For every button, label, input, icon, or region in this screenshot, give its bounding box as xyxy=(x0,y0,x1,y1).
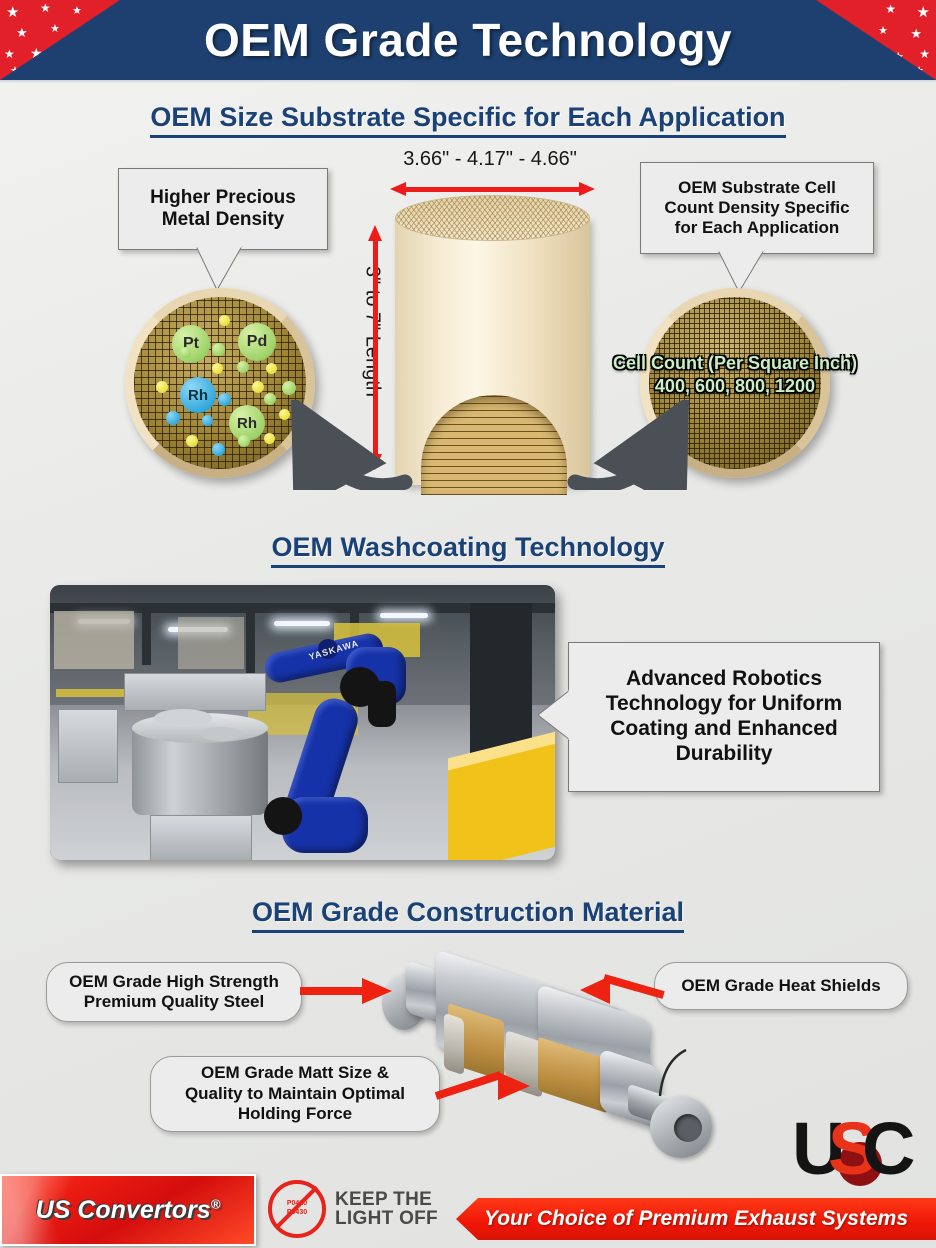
cell-count-title: Cell Count (Per Square Inch) xyxy=(585,352,885,375)
metal-particle xyxy=(212,363,223,374)
washcoating-robot-photo: YASKAWA xyxy=(50,585,555,860)
usc-logo: U S C xyxy=(792,1118,928,1188)
curved-arrow-left-icon xyxy=(285,400,415,490)
callout-line: Advanced Robotics xyxy=(606,667,842,692)
metal-particle xyxy=(156,381,168,393)
keep-light-line-2: LIGHT OFF xyxy=(335,1209,438,1228)
callout-line: Metal Density xyxy=(150,209,296,231)
callout-advanced-robotics: Advanced Robotics Technology for Uniform… xyxy=(568,642,880,792)
metal-bubble-rh-blue: Rh xyxy=(180,377,216,413)
metal-particle xyxy=(238,435,250,447)
logo-letter-c: C xyxy=(862,1114,915,1184)
registered-mark: ® xyxy=(211,1196,221,1211)
metal-particle xyxy=(186,435,198,447)
callout-higher-precious-metal-density: Higher Precious Metal Density xyxy=(118,168,328,250)
tagline-text: Your Choice of Premium Exhaust Systems xyxy=(484,1207,908,1231)
metal-particle xyxy=(180,347,191,358)
page-title: OEM Grade Technology xyxy=(0,0,936,80)
section-title-construction: OEM Grade Construction Material xyxy=(0,897,936,928)
callout-line: Count Density Specific xyxy=(664,198,849,218)
metal-particle xyxy=(212,343,225,356)
callout-line: Technology for Uniform xyxy=(606,692,842,717)
metal-particle xyxy=(266,363,277,374)
section-title-substrate: OEM Size Substrate Specific for Each App… xyxy=(0,102,936,133)
callout-matt-size-quality: OEM Grade Matt Size & Quality to Maintai… xyxy=(150,1056,440,1132)
curved-arrow-right-icon xyxy=(565,400,695,490)
callout-line: OEM Grade Matt Size & xyxy=(185,1063,405,1083)
callout-line: Holding Force xyxy=(185,1104,405,1124)
callout-line: OEM Substrate Cell xyxy=(664,178,849,198)
diameter-arrow-icon xyxy=(390,182,595,196)
tagline-banner: Your Choice of Premium Exhaust Systems xyxy=(456,1198,936,1240)
callout-line: OEM Grade High Strength xyxy=(69,972,279,992)
arrow-to-heat-shields-icon xyxy=(580,964,666,1006)
no-check-engine-light-icon: P0420 P0430 xyxy=(268,1180,326,1238)
substrate-diameter-label: 3.66" - 4.17" - 4.66" xyxy=(330,148,650,171)
header-divider xyxy=(0,80,936,83)
metal-particle xyxy=(252,381,264,393)
callout-substrate-cell-count-density: OEM Substrate Cell Count Density Specifi… xyxy=(640,162,874,254)
callout-line: Coating and Enhanced xyxy=(606,717,842,742)
callout-tail-robotics xyxy=(538,690,570,742)
infographic-page: ★ ★ ★ ★ ★ ★ ★ ★ ★ ★ ★ ★ ★ ★ ★ OEM Grade … xyxy=(0,0,936,1248)
brand-name: US Convertors xyxy=(36,1196,211,1224)
metal-particle xyxy=(166,411,180,425)
metal-particle xyxy=(219,315,230,326)
callout-heat-shields: OEM Grade Heat Shields xyxy=(654,962,908,1010)
keep-light-off-block: P0420 P0430 KEEP THE LIGHT OFF xyxy=(268,1182,448,1236)
callout-premium-quality-steel: OEM Grade High Strength Premium Quality … xyxy=(46,962,302,1022)
cell-count-overlay: Cell Count (Per Square Inch) 400, 600, 8… xyxy=(585,352,885,397)
page-header: ★ ★ ★ ★ ★ ★ ★ ★ ★ ★ ★ ★ ★ ★ ★ OEM Grade … xyxy=(0,0,936,80)
callout-line: Premium Quality Steel xyxy=(69,992,279,1012)
callout-line: Quality to Maintain Optimal xyxy=(185,1084,405,1104)
metal-particle xyxy=(212,443,225,456)
metal-particle xyxy=(218,393,231,406)
section-title-washcoating: OEM Washcoating Technology xyxy=(0,532,936,563)
callout-line: for Each Application xyxy=(664,218,849,238)
metal-particle xyxy=(264,393,276,405)
metal-particle xyxy=(237,361,249,373)
ceramic-substrate-illustration xyxy=(395,195,590,495)
us-convertors-badge: US Convertors® xyxy=(0,1174,256,1246)
callout-tail-left xyxy=(196,246,256,294)
oxygen-sensor-wire-icon xyxy=(626,1048,690,1104)
metal-particle xyxy=(282,381,296,395)
arrow-to-steel-icon xyxy=(300,978,392,1004)
metal-particle xyxy=(264,433,275,444)
metal-particle xyxy=(202,415,213,426)
callout-line: Durability xyxy=(606,742,842,767)
arrow-to-matt-icon xyxy=(436,1072,534,1106)
cell-count-values: 400, 600, 800, 1200 xyxy=(585,375,885,398)
metal-bubble-pt: Pt xyxy=(172,325,210,363)
metal-bubble-pd: Pd xyxy=(238,323,276,361)
keep-light-line-1: KEEP THE xyxy=(335,1190,438,1209)
callout-line: Higher Precious xyxy=(150,187,296,209)
